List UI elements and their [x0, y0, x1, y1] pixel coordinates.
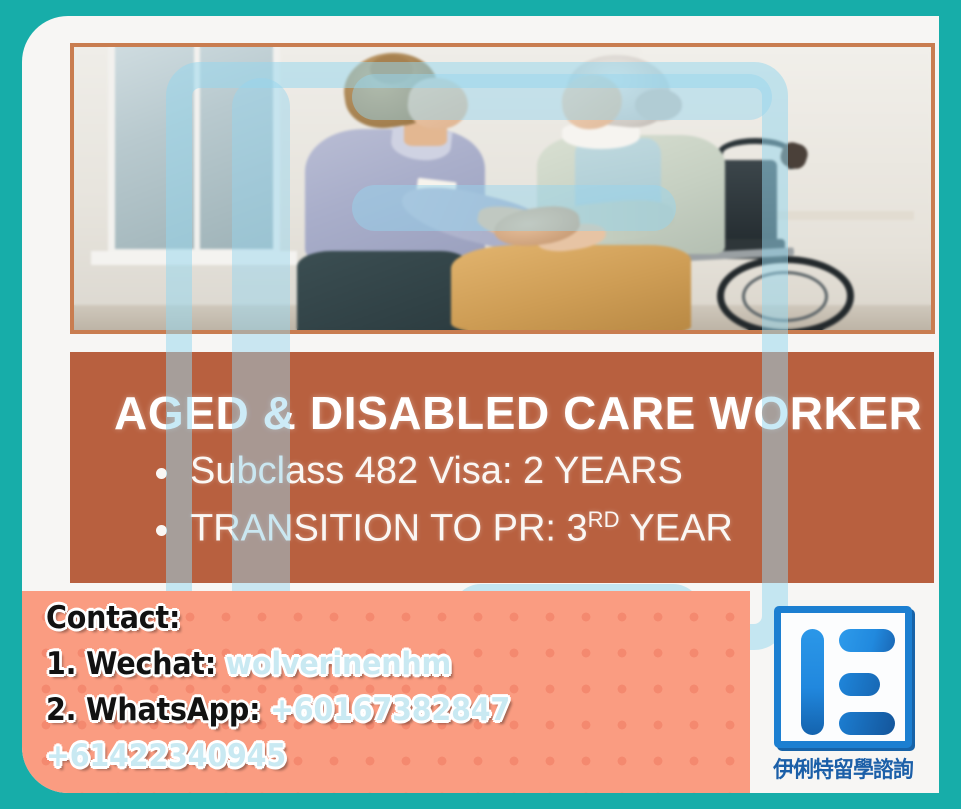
poster-root: AGED & DISABLED CARE WORKER Subclass 482…	[0, 0, 961, 809]
e-bars-icon	[774, 606, 912, 748]
photo-window-sill	[91, 251, 297, 265]
photo-window-mullion	[194, 47, 200, 249]
photo-window	[108, 47, 279, 256]
elderly-hair-bun	[635, 89, 682, 120]
page-title: AGED & DISABLED CARE WORKER	[114, 386, 922, 440]
list-item-pr: TRANSITION TO PR: 3RD YEAR	[148, 507, 733, 551]
contact-wechat: 1. Wechat: wolverinenhm	[46, 641, 694, 687]
whatsapp-value-au[interactable]: +61422340945	[46, 733, 694, 779]
pr-text-after: YEAR	[620, 508, 733, 550]
logo-bar-top	[839, 629, 895, 652]
wechat-value[interactable]: wolverinenhm	[226, 646, 451, 682]
pr-text-before: TRANSITION TO PR: 3	[190, 508, 588, 550]
logo-company-name: 伊俐特留學諮詢	[772, 752, 915, 784]
wheelchair-hubrail	[742, 271, 828, 322]
nurse-trousers	[297, 251, 468, 330]
logo-bar-bottom	[839, 712, 895, 735]
whatsapp-value-my[interactable]: +60167382847	[270, 692, 510, 728]
wechat-label: 1. Wechat:	[46, 646, 226, 682]
nurse-hair-bun	[370, 55, 413, 83]
contact-whatsapp-1: 2. WhatsApp: +60167382847	[46, 687, 694, 733]
logo-bar-middle	[839, 673, 880, 696]
benefits-list: Subclass 482 Visa: 2 YEARS TRANSITION TO…	[148, 450, 733, 565]
logo-vertical-bar	[801, 629, 824, 735]
lap-blanket	[451, 245, 691, 330]
care-photo	[74, 47, 931, 330]
pr-ordinal-suffix: RD	[588, 507, 620, 532]
list-item-visa: Subclass 482 Visa: 2 YEARS	[148, 450, 733, 493]
contact-heading: Contact:	[46, 595, 694, 641]
photo-frame	[70, 43, 935, 334]
company-logo[interactable]: 伊俐特留學諮詢	[768, 606, 918, 791]
whatsapp-label: 2. WhatsApp:	[46, 692, 270, 728]
headline-band: AGED & DISABLED CARE WORKER Subclass 482…	[70, 352, 934, 583]
contact-bar: Contact: 1. Wechat: wolverinenhm 2. What…	[22, 591, 750, 793]
contact-details: Contact: 1. Wechat: wolverinenhm 2. What…	[46, 595, 694, 779]
